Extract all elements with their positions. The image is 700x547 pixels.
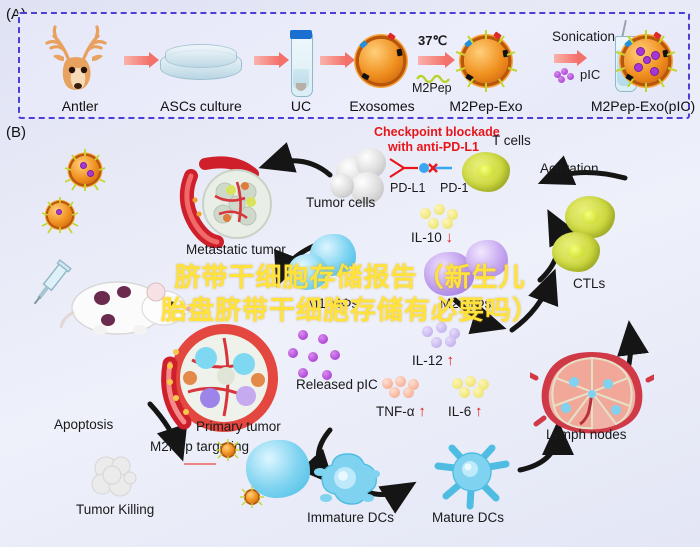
panel-a-label-m2pep: M2Pep <box>412 82 452 95</box>
pic-label: pIC <box>580 68 600 81</box>
targeted-macrophage-icon <box>180 452 220 476</box>
label-metastatic-tumor: Metastatic tumor <box>186 243 286 257</box>
label-t-cells: T cells <box>492 134 531 148</box>
panel-a-label-exosomes: Exosomes <box>336 98 428 114</box>
label-pdl1: PD-L1 <box>390 182 425 195</box>
label-tumor-killing: Tumor Killing <box>76 503 154 517</box>
label-il12: IL-12 ↑ <box>412 353 454 368</box>
label-il6: IL-6 ↑ <box>448 404 483 419</box>
watermark-overlay: 脐带干细胞存储报告（新生儿 胎盘脐带干细胞存储有必要吗） <box>20 262 680 329</box>
label-primary-tumor: Primary tumor <box>196 420 281 434</box>
label-immature-dcs: Immature DCs <box>307 511 394 525</box>
petri-dish-icon <box>160 44 240 82</box>
checkpoint-blockade-line2: with anti-PD-L1 <box>388 141 479 154</box>
label-activation: Activation <box>540 162 599 176</box>
label-tnfa: TNF-α ↑ <box>376 404 426 419</box>
arrow-exosomes-to-m2pepexo <box>418 56 446 65</box>
m2pep-exosome-pic-icon <box>610 25 682 97</box>
m2-macrophage-target-icon <box>246 440 310 498</box>
sonication-label: Sonication <box>552 30 615 44</box>
figure-root: (A) Antler <box>0 0 700 547</box>
label-il10: IL-10 ↓ <box>411 230 453 245</box>
panel-a-label-antler: Antler <box>38 98 122 114</box>
panel-a-label-m2pepexopic: M2Pep-Exo(pIC) <box>568 98 700 114</box>
temperature-label: 37℃ <box>418 34 447 47</box>
apoptotic-cell-icon <box>88 452 140 502</box>
arrow-to-sonication <box>554 54 578 63</box>
label-tumor-cells: Tumor cells <box>306 196 375 210</box>
il6-trend: ↑ <box>475 403 483 420</box>
label-released-pic: Released pIC <box>296 378 378 392</box>
il6-cytokine-dots <box>452 376 492 398</box>
m2pep-exosome-icon <box>450 25 522 97</box>
label-mature-dcs: Mature DCs <box>432 511 504 525</box>
il12-trend: ↑ <box>447 352 455 369</box>
il10-name: IL-10 <box>411 230 442 245</box>
il10-cytokine-dots <box>420 204 460 228</box>
panel-a-label-m2pepexo: M2Pep-Exo <box>424 98 548 114</box>
il12-name: IL-12 <box>412 353 443 368</box>
m2pep-peptide-icon <box>416 70 454 80</box>
lymph-nodes-icon <box>530 348 654 436</box>
mature-dc-icon <box>430 440 514 512</box>
panel-a: Antler ASCs culture UC Exosomes <box>18 12 690 119</box>
watermark-line-1: 脐带干细胞存储报告（新生儿 <box>20 262 680 295</box>
metastatic-tumor-icon <box>175 156 287 248</box>
panel-a-label-ascs: ASCs culture <box>148 98 254 114</box>
centrifuge-tube-icon <box>288 27 314 97</box>
arrow-antler-to-culture <box>124 56 150 65</box>
tnfa-cytokine-dots <box>382 376 422 398</box>
tnfa-name: TNF-α <box>376 404 415 419</box>
arrow-culture-to-uc <box>254 56 280 65</box>
exosome-icon <box>350 30 412 92</box>
released-pic-dots <box>288 330 352 380</box>
watermark-line-2: 胎盘脐带干细胞存储有必要吗） <box>20 295 680 328</box>
deer-icon <box>42 24 114 92</box>
il10-trend: ↓ <box>446 229 454 246</box>
arrow-uc-to-exosomes <box>320 56 346 65</box>
label-lymph-nodes: Lymph nodes <box>546 428 627 442</box>
immature-dc-icon <box>312 448 384 512</box>
membrane-protein-black <box>396 49 402 57</box>
checkpoint-blockade-line1: Checkpoint blockade <box>374 126 500 139</box>
t-cell-icon <box>462 152 510 192</box>
label-apoptosis: Apoptosis <box>54 418 113 432</box>
nanoparticle-icon <box>60 145 110 195</box>
pic-cluster-icon <box>554 68 576 82</box>
tnfa-trend: ↑ <box>418 403 426 420</box>
nanoparticle-icon <box>38 193 82 237</box>
il6-name: IL-6 <box>448 404 471 419</box>
panel-a-label-uc: UC <box>278 98 324 114</box>
label-pd1: PD-1 <box>440 182 468 195</box>
